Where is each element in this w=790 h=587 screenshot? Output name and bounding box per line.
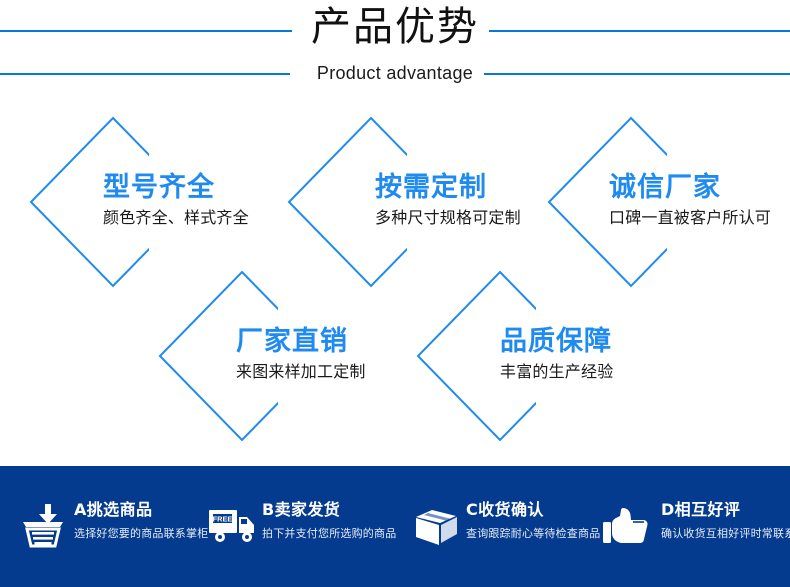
- step-a[interactable]: A挑选商品 选择好您要的商品联系掌柜: [20, 466, 210, 587]
- step-d[interactable]: D相互好评 确认收货互相好评时常联系: [603, 466, 790, 587]
- section-header: 产品优势 Product advantage: [0, 0, 790, 100]
- package-box-icon: [412, 504, 458, 546]
- advantage-subtitle: 丰富的生产经验: [500, 361, 613, 383]
- step-desc: 拍下并支付您所选购的商品: [262, 526, 396, 542]
- thumbs-up-icon: [603, 506, 653, 544]
- step-title: C收货确认: [466, 499, 600, 521]
- step-title: A挑选商品: [74, 499, 208, 521]
- step-desc: 查询跟踪耐心等待检查商品: [466, 526, 600, 542]
- step-b[interactable]: FREE B卖家发货 拍下并支付您所选购的商品: [208, 466, 408, 587]
- step-desc: 确认收货互相好评时常联系: [661, 526, 790, 542]
- advantage-card-4[interactable]: 厂家直销 来图来样加工定制: [160, 272, 460, 440]
- advantage-card-1[interactable]: 型号齐全 颜色齐全、样式齐全: [31, 118, 331, 286]
- advantage-card-5[interactable]: 品质保障 丰富的生产经验: [418, 272, 718, 440]
- advantage-subtitle: 口碑一直被客户所认可: [609, 207, 771, 229]
- advantage-title: 品质保障: [500, 326, 613, 358]
- step-title: D相互好评: [661, 499, 790, 521]
- advantage-title: 按需定制: [375, 172, 521, 204]
- advantage-subtitle: 多种尺寸规格可定制: [375, 207, 521, 229]
- advantage-card-3[interactable]: 诚信厂家 口碑一直被客户所认可: [549, 118, 790, 286]
- advantage-subtitle: 颜色齐全、样式齐全: [103, 207, 249, 229]
- step-c[interactable]: C收货确认 查询跟踪耐心等待检查商品: [412, 466, 602, 587]
- step-title: B卖家发货: [262, 499, 396, 521]
- shopping-basket-download-icon: [20, 502, 66, 548]
- purchase-steps-bar: A挑选商品 选择好您要的商品联系掌柜 FREE B卖家发货: [0, 466, 790, 587]
- advantage-title: 型号齐全: [103, 172, 249, 204]
- product-advantage-banner: 产品优势 Product advantage 型号齐全 颜色齐全、样式齐全: [0, 0, 790, 587]
- delivery-truck-icon: FREE: [208, 506, 254, 544]
- advantage-card-2[interactable]: 按需定制 多种尺寸规格可定制: [289, 118, 589, 286]
- step-desc: 选择好您要的商品联系掌柜: [74, 526, 208, 542]
- page-title-en: Product advantage: [0, 60, 790, 86]
- truck-icon-text: FREE: [213, 514, 233, 523]
- advantage-subtitle: 来图来样加工定制: [236, 361, 366, 383]
- advantage-title: 诚信厂家: [609, 172, 771, 204]
- advantages-grid: 型号齐全 颜色齐全、样式齐全 按需定制 多种尺寸规格可定制: [0, 100, 790, 466]
- advantage-title: 厂家直销: [236, 326, 366, 358]
- page-title-cn: 产品优势: [0, 2, 790, 52]
